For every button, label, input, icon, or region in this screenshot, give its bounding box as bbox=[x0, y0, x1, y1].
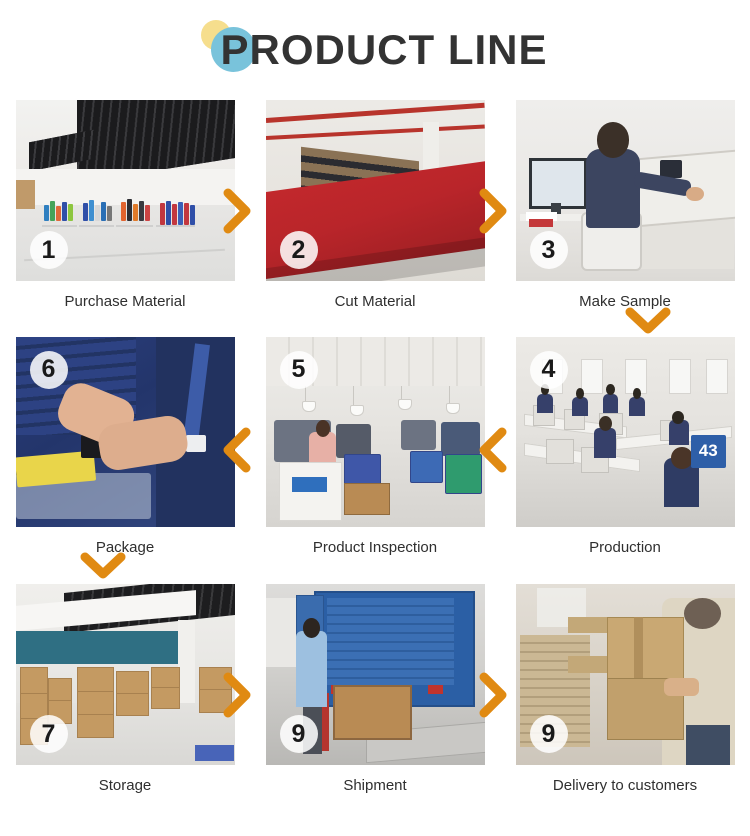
step-badge: 3 bbox=[530, 231, 568, 269]
step-caption: Storage bbox=[0, 765, 250, 795]
step-photo-package: 6 bbox=[16, 337, 235, 527]
station-number-sign: 43 bbox=[691, 435, 726, 467]
step-photo-shipment: 9 bbox=[266, 584, 485, 765]
step-caption: Purchase Material bbox=[0, 281, 250, 311]
steps-grid: 1 Purchase Material 2 bbox=[0, 100, 750, 795]
row2-to-row3-connector bbox=[0, 556, 750, 584]
chevron-right-icon bbox=[478, 672, 508, 718]
step-cell-1[interactable]: 1 Purchase Material bbox=[0, 100, 250, 311]
step-cell-9[interactable]: 9 Delivery to customers bbox=[500, 584, 750, 795]
page-title: PRODUCT LINE bbox=[203, 29, 548, 71]
step-badge: 5 bbox=[280, 351, 318, 389]
step-caption: Delivery to customers bbox=[500, 765, 750, 795]
step-badge: 6 bbox=[30, 351, 68, 389]
step-cell-2[interactable]: 2 Cut Material bbox=[250, 100, 500, 311]
step-caption: Product Inspection bbox=[250, 527, 500, 557]
step-cell-3[interactable]: 3 Make Sample bbox=[500, 100, 750, 311]
page-header: PRODUCT LINE bbox=[0, 0, 750, 100]
step-caption: Production bbox=[500, 527, 750, 557]
chevron-left-icon bbox=[478, 427, 508, 473]
step-caption: Cut Material bbox=[250, 281, 500, 311]
steps-row-1: 1 Purchase Material 2 bbox=[0, 100, 750, 311]
step-cell-8[interactable]: 9 Shipment bbox=[250, 584, 500, 795]
step-badge: 9 bbox=[280, 715, 318, 753]
step-cell-5[interactable]: 5 Product Inspection bbox=[250, 337, 500, 557]
step-photo-storage: 7 bbox=[16, 584, 235, 765]
step-photo-make-sample: 3 bbox=[516, 100, 735, 281]
step-cell-7[interactable]: 7 Storage bbox=[0, 584, 250, 795]
chevron-right-icon bbox=[478, 188, 508, 234]
chevron-right-icon bbox=[222, 672, 252, 718]
step-photo-cut-material: 2 bbox=[266, 100, 485, 281]
step-photo-production: 43 4 bbox=[516, 337, 735, 527]
step-photo-product-inspection: 5 bbox=[266, 337, 485, 527]
steps-row-2: 6 Package bbox=[0, 337, 750, 557]
product-line-infographic: PRODUCT LINE bbox=[0, 0, 750, 836]
chevron-right-icon bbox=[222, 188, 252, 234]
step-photo-purchase-material: 1 bbox=[16, 100, 235, 281]
step-badge: 9 bbox=[530, 715, 568, 753]
step-badge: 7 bbox=[30, 715, 68, 753]
step-cell-4[interactable]: 43 4 Production bbox=[500, 337, 750, 557]
chevron-left-icon bbox=[222, 427, 252, 473]
logo-title-group: PRODUCT LINE bbox=[203, 29, 548, 71]
step-badge: 4 bbox=[530, 351, 568, 389]
step-photo-delivery-to-customers: 9 bbox=[516, 584, 735, 765]
step-badge: 2 bbox=[280, 231, 318, 269]
steps-row-3: 7 Storage 9 bbox=[0, 584, 750, 795]
step-caption: Shipment bbox=[250, 765, 500, 795]
step-cell-6[interactable]: 6 Package bbox=[0, 337, 250, 557]
chevron-down-icon bbox=[625, 307, 671, 335]
row1-to-row2-connector bbox=[0, 311, 750, 337]
step-badge: 1 bbox=[30, 231, 68, 269]
chevron-down-icon bbox=[80, 552, 126, 580]
